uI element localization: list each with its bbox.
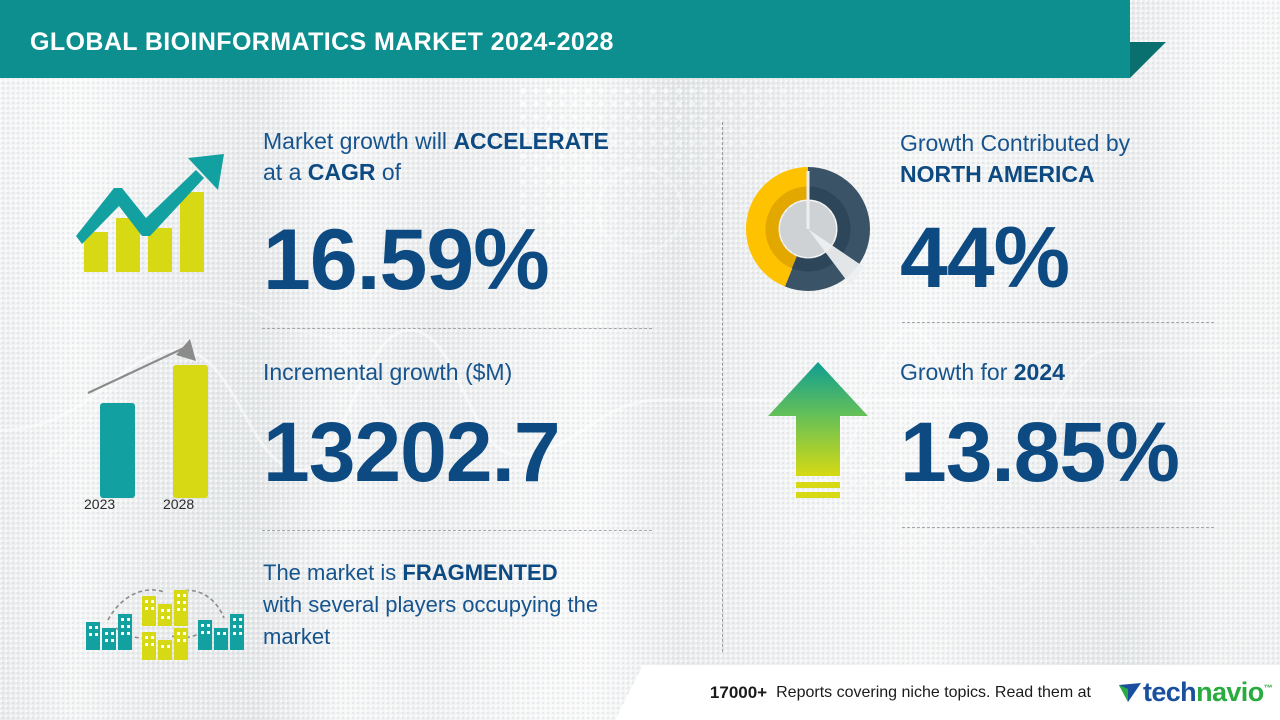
column-divider xyxy=(722,122,723,652)
fragmented-block: The market is FRAGMENTED with several pl… xyxy=(263,557,683,653)
cagr-caption: Market growth will ACCELERATE at a CAGR … xyxy=(263,126,663,187)
fragmented-caption: The market is FRAGMENTED with several pl… xyxy=(263,557,683,653)
fragmented-line3: market xyxy=(263,624,330,649)
cagr-block: Market growth will ACCELERATE at a CAGR … xyxy=(263,126,663,303)
footer-content: 17000+ Reports covering niche topics. Re… xyxy=(640,665,1280,720)
year-growth-block: Growth for 2024 13.85% xyxy=(900,357,1240,494)
cagr-value: 16.59% xyxy=(263,217,663,303)
growth-arrow-bars-icon xyxy=(72,140,232,280)
footer-tagline: Reports covering niche topics. Read them… xyxy=(776,684,1091,702)
year-growth-label: Growth for 2024 xyxy=(900,357,1240,388)
year-growth-label-strong: 2024 xyxy=(1014,359,1065,385)
bar-label-2023: 2023 xyxy=(84,496,115,512)
cagr-line2-strong: CAGR xyxy=(308,159,376,185)
divider-left-1 xyxy=(262,328,652,329)
year-growth-value: 13.85% xyxy=(900,410,1240,494)
cagr-line2-prefix: at a xyxy=(263,159,308,185)
technavio-logo[interactable]: technavio™ xyxy=(1117,679,1272,706)
fragmented-line1-strong: FRAGMENTED xyxy=(402,560,557,585)
header-fold-corner xyxy=(1130,42,1166,78)
cagr-line1-prefix: Market growth will xyxy=(263,128,453,154)
two-bar-chart-icon xyxy=(78,335,228,520)
divider-right-2 xyxy=(902,527,1214,528)
bar-label-2028: 2028 xyxy=(163,496,194,512)
up-arrow-gradient-icon xyxy=(762,358,874,510)
divider-left-2 xyxy=(262,530,652,531)
infographic-canvas: GLOBAL BIOINFORMATICS MARKET 2024-2028 M… xyxy=(0,0,1280,720)
region-line1: Growth Contributed by xyxy=(900,130,1130,156)
city-buildings-network-icon xyxy=(68,562,248,662)
fragmented-line1-prefix: The market is xyxy=(263,560,402,585)
header-banner: GLOBAL BIOINFORMATICS MARKET 2024-2028 xyxy=(0,0,1130,78)
donut-chart-icon xyxy=(742,163,874,295)
cagr-line1-strong: ACCELERATE xyxy=(453,128,608,154)
region-value: 44% xyxy=(900,215,1230,301)
logo-trademark: ™ xyxy=(1264,683,1272,693)
region-contribution-block: Growth Contributed by NORTH AMERICA 44% xyxy=(900,128,1230,301)
divider-right-1 xyxy=(902,322,1214,323)
footer-report-count: 17000+ xyxy=(710,683,767,703)
incremental-growth-value: 13202.7 xyxy=(263,410,663,494)
logo-text-navio: navio xyxy=(1196,677,1264,707)
incremental-growth-block: Incremental growth ($M) 13202.7 xyxy=(263,357,663,494)
fragmented-line2: with several players occupying the xyxy=(263,592,598,617)
page-title: GLOBAL BIOINFORMATICS MARKET 2024-2028 xyxy=(30,28,614,57)
region-caption: Growth Contributed by NORTH AMERICA xyxy=(900,128,1230,189)
year-growth-label-prefix: Growth for xyxy=(900,359,1014,385)
incremental-growth-label: Incremental growth ($M) xyxy=(263,357,663,388)
region-line2-strong: NORTH AMERICA xyxy=(900,161,1095,187)
logo-text-tech: tech xyxy=(1143,677,1196,707)
cagr-line2-suffix: of xyxy=(376,159,402,185)
technavio-mark-icon xyxy=(1117,680,1143,706)
